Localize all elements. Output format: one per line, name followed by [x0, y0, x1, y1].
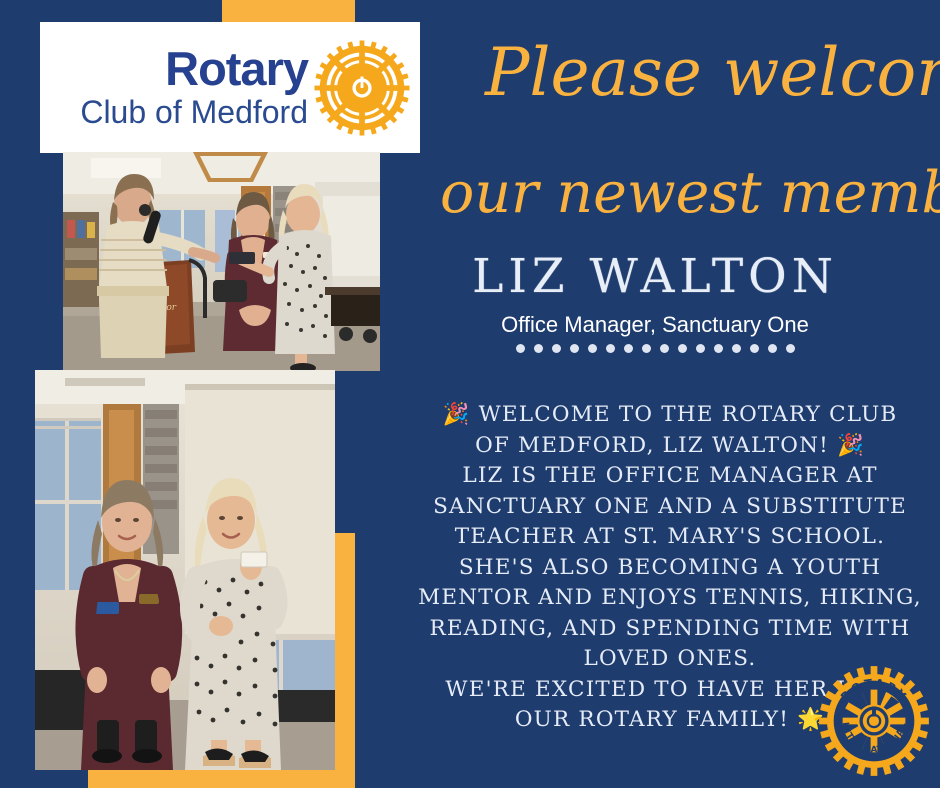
divider-dot: [624, 344, 633, 353]
divider-dot: [534, 344, 543, 353]
poster-canvas: Rotary Club of Medford: [0, 0, 940, 788]
rotary-international-wheel-icon: ROTARY INTERNATIONAL: [818, 665, 930, 777]
body-line: 🎉 WELCOME TO THE ROTARY CLUB: [398, 400, 940, 431]
logo-club-text: Club of Medford: [80, 94, 308, 131]
body-line: LIZ IS THE OFFICE MANAGER AT: [398, 461, 940, 492]
event-photo-award-presentation: Manor: [63, 152, 380, 371]
rotary-wheel-icon: [314, 40, 410, 136]
body-line: MENTOR AND ENJOYS TENNIS, HIKING,: [398, 583, 940, 614]
divider-dot: [552, 344, 561, 353]
body-line: SANCTUARY ONE AND A SUBSTITUTE: [398, 492, 940, 523]
divider-dot: [642, 344, 651, 353]
divider-dot: [660, 344, 669, 353]
event-photo-two-members: [35, 370, 335, 770]
divider-dot: [678, 344, 687, 353]
headline-line-2: our newest member:: [440, 165, 940, 222]
logo-rotary-text: Rotary: [165, 45, 308, 92]
gold-band-top: [222, 0, 355, 24]
divider-dot: [696, 344, 705, 353]
divider-dot: [750, 344, 759, 353]
divider-dot: [516, 344, 525, 353]
headline-line-1: Please welcome: [485, 40, 940, 106]
member-role: Office Manager, Sanctuary One: [420, 312, 890, 338]
divider-dot: [570, 344, 579, 353]
divider-dot: [606, 344, 615, 353]
body-line: READING, AND SPENDING TIME WITH: [398, 614, 940, 645]
gold-band-bottom: [88, 770, 355, 788]
divider-dot: [786, 344, 795, 353]
divider-dot: [714, 344, 723, 353]
body-line: TEACHER AT ST. MARY'S SCHOOL.: [398, 522, 940, 553]
body-line: OF MEDFORD, LIZ WALTON! 🎉: [398, 431, 940, 462]
rotary-club-logo-card: Rotary Club of Medford: [40, 22, 420, 153]
member-name: LIZ WALTON: [420, 252, 890, 301]
divider-dot: [768, 344, 777, 353]
logo-wordmark: Rotary Club of Medford: [80, 45, 308, 131]
body-line: SHE'S ALSO BECOMING A YOUTH: [398, 553, 940, 584]
divider-dots: [420, 344, 890, 353]
divider-dot: [588, 344, 597, 353]
divider-dot: [732, 344, 741, 353]
